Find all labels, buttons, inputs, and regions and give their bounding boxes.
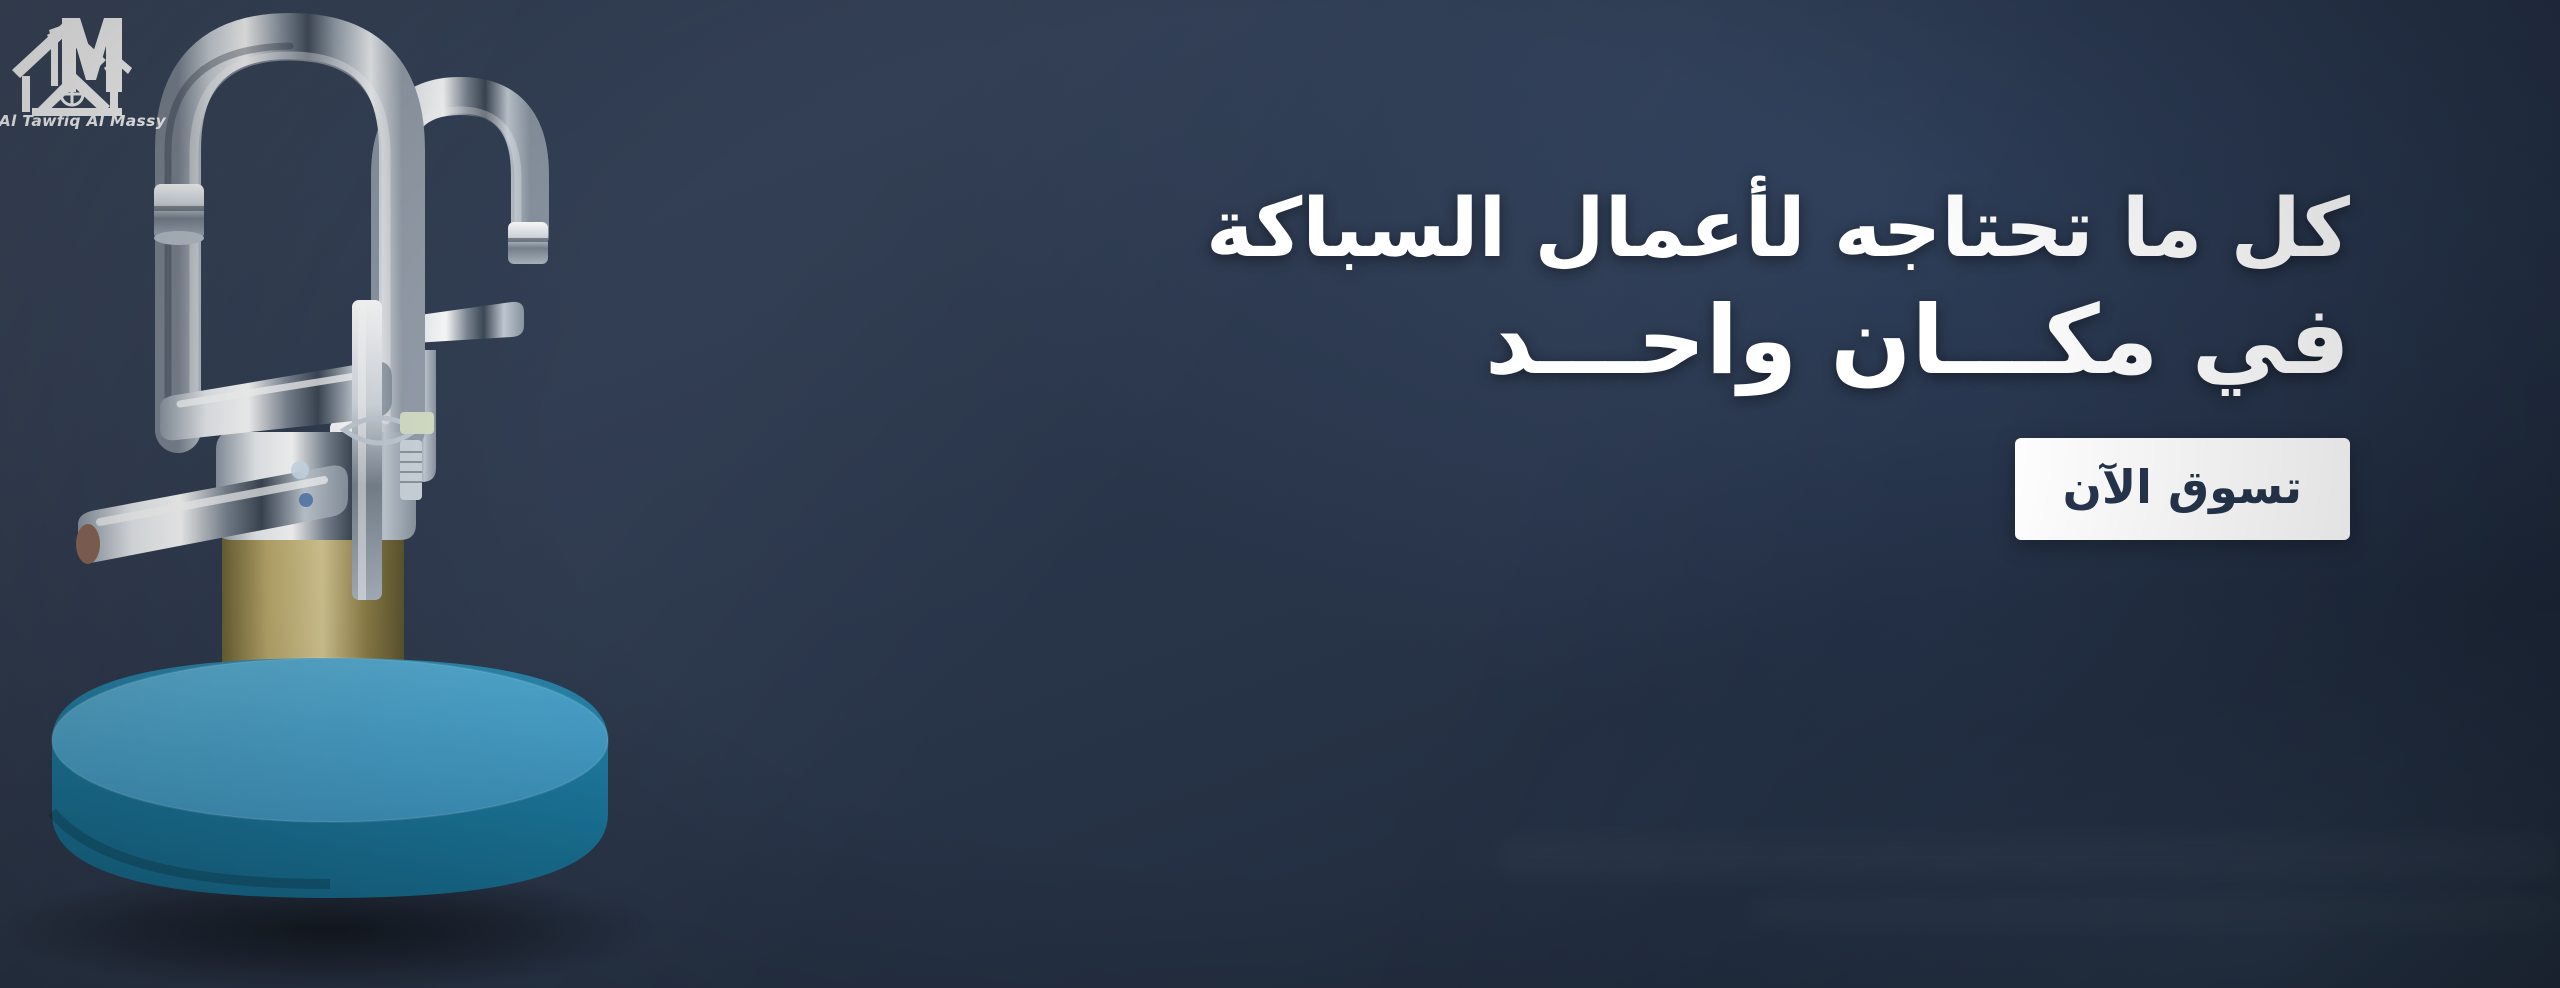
product-image [0, 0, 700, 988]
headline-line-1: كل ما تحتاجه لأعمال السباكة [1170, 188, 2350, 271]
background-light-band [1750, 890, 2560, 934]
shop-now-button[interactable]: تسوق الآن [2015, 438, 2350, 540]
brand-name: Al Tawfiq Al Massy [16, 112, 166, 130]
headline-line-2: في مكـــان واحـــد [1170, 293, 2350, 390]
background-light-band [1500, 830, 2560, 884]
promo-banner: Al Tawfiq Al Massy كل ما تحتاجه لأعمال ا… [0, 0, 2560, 988]
brand-logo[interactable]: Al Tawfiq Al Massy [6, 8, 172, 133]
hero-copy: كل ما تحتاجه لأعمال السباكة في مكـــان و… [1170, 188, 2350, 540]
product-pedestal [52, 658, 608, 898]
